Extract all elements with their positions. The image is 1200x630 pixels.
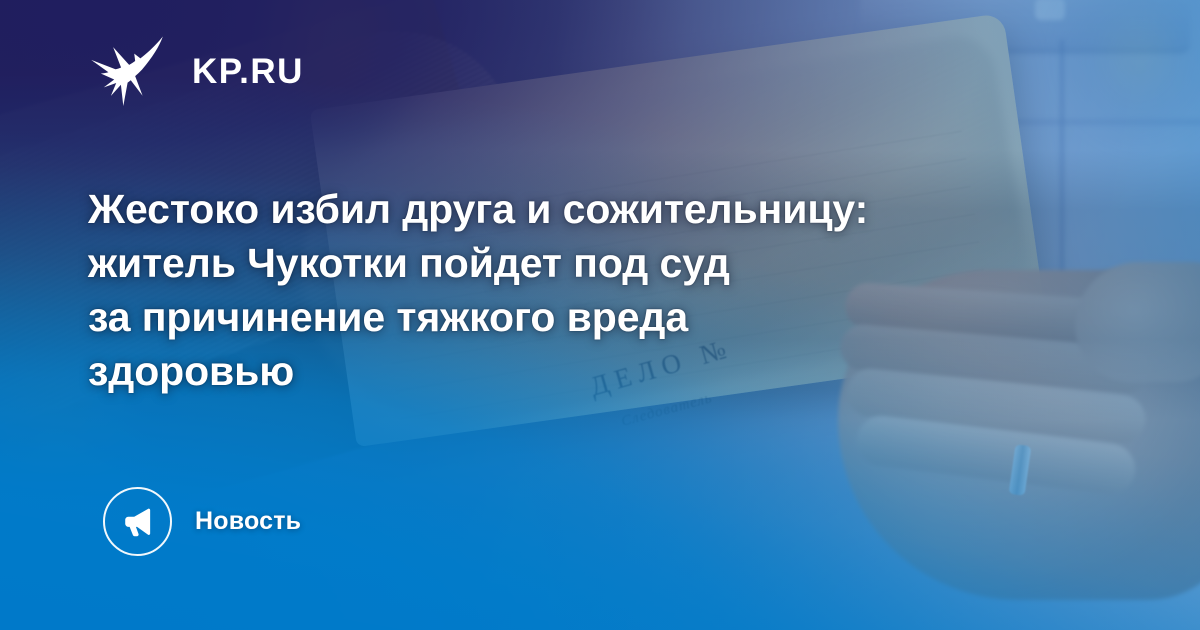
headline-line: здоровью	[88, 344, 1048, 398]
megaphone-icon	[103, 487, 172, 556]
page-title: Жестоко избил друга и сожительницу: жите…	[88, 182, 1048, 398]
headline-line: Жестоко избил друга и сожительницу:	[88, 182, 1048, 236]
news-share-card: ДЕЛО № Следователь KP.RU Жестоко избил д…	[0, 0, 1200, 630]
status-badge[interactable]: Новость	[103, 487, 301, 556]
headline-line: житель Чукотки пойдет под суд	[88, 236, 1048, 290]
brand-name: KP.RU	[192, 54, 304, 89]
headline-line: за причинение тяжкого вреда	[88, 290, 1048, 344]
status-badge-label: Новость	[195, 507, 301, 536]
brand-logo[interactable]: KP.RU	[88, 34, 304, 108]
swallow-bird-icon	[88, 34, 166, 108]
